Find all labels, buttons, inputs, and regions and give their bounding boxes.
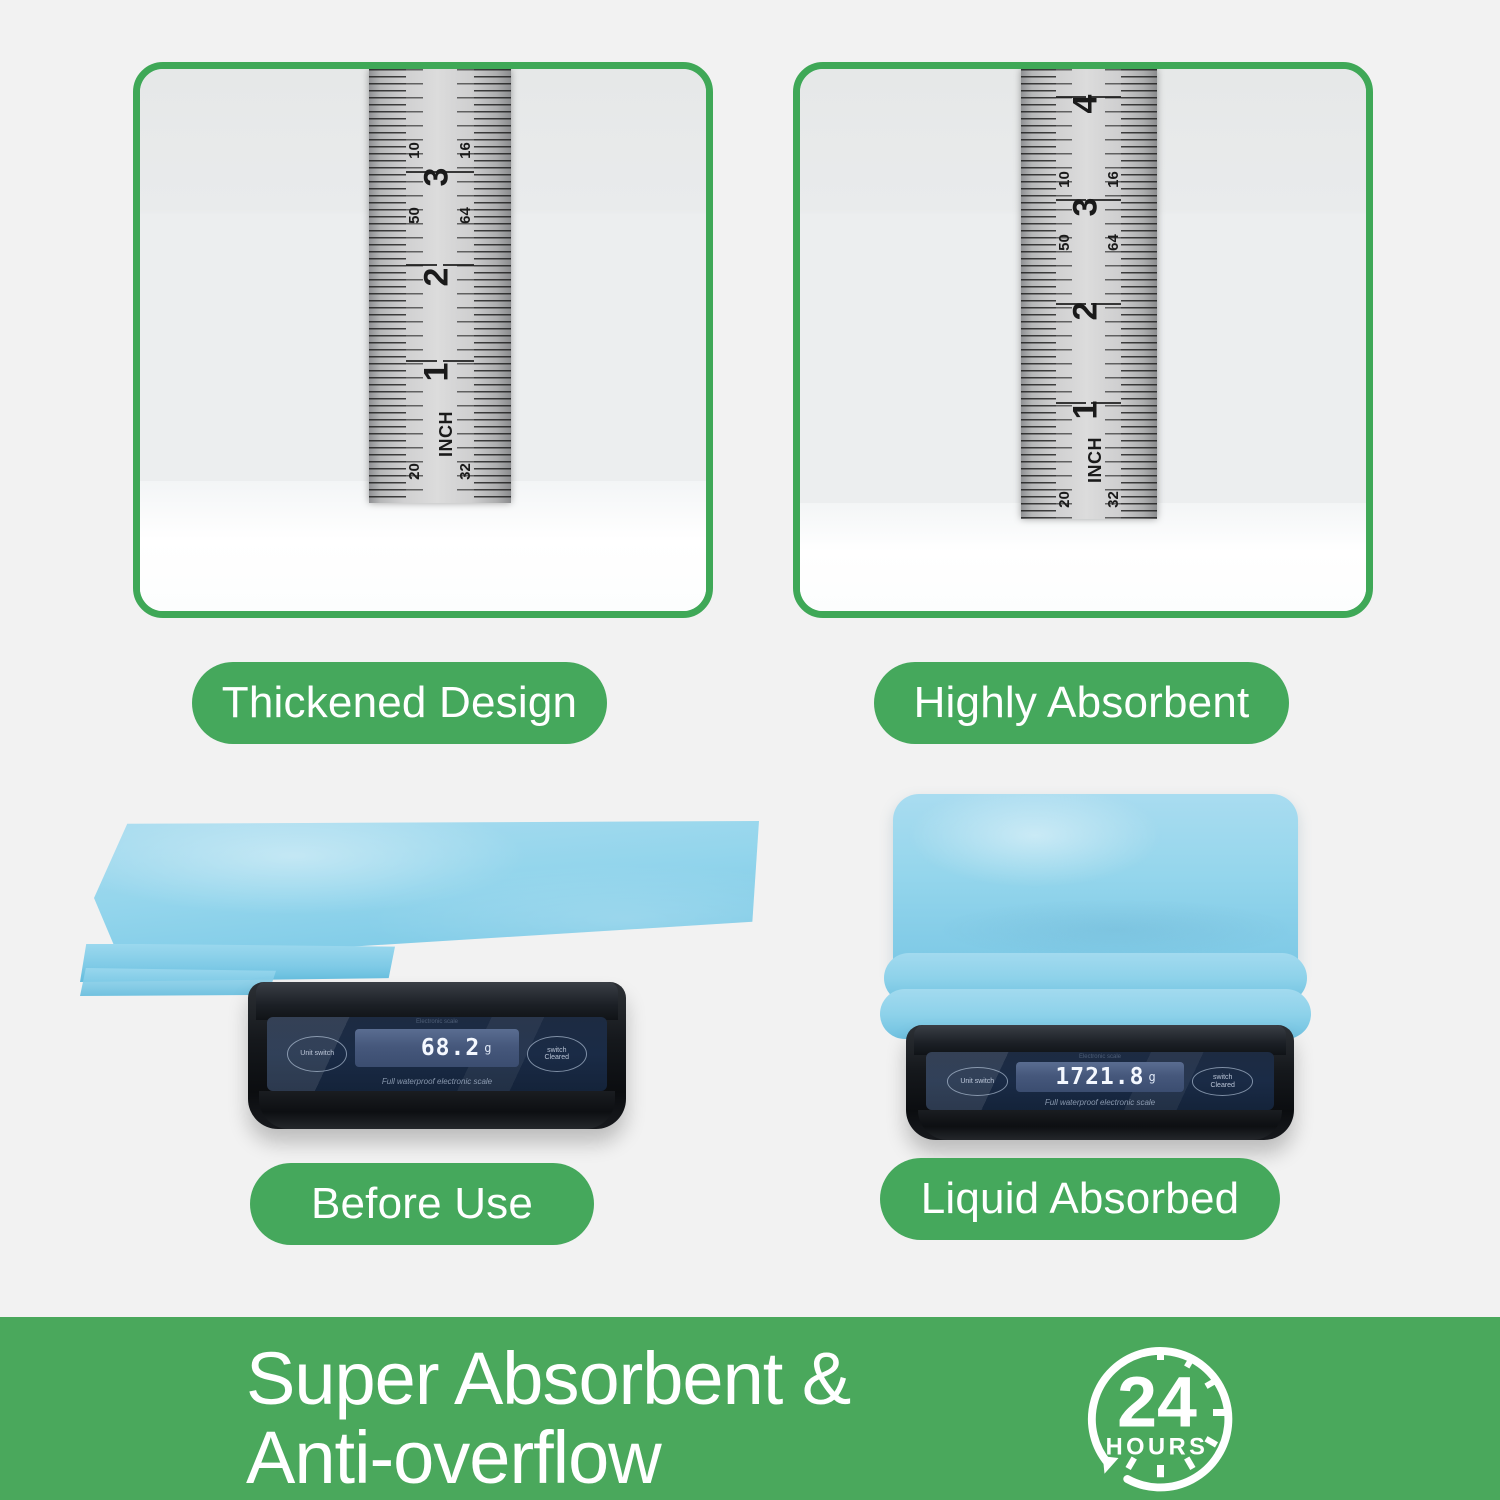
ruler-ticks-right <box>474 69 511 503</box>
photo-frame-highly-absorbent: 4 10 16 3 50 64 2 1 INCH 20 32 <box>793 62 1373 618</box>
ruler-frac-10: 10 <box>1057 172 1072 189</box>
ruler-inch-1: 1 <box>420 363 454 382</box>
caption-pill-before-use[interactable]: Before Use <box>250 1163 594 1245</box>
caption-pill-highly-absorbent[interactable]: Highly Absorbent <box>874 662 1289 744</box>
photo-before-use: Electronic scale Unit switch 68.2 g swit… <box>80 800 780 1150</box>
scale-control-face: Electronic scale Unit switch 68.2 g swit… <box>267 1017 607 1091</box>
photo-liquid-absorbed: Electronic scale Unit switch 1721.8 g sw… <box>880 780 1320 1140</box>
ruler-ticks-left-coarse <box>1056 69 1072 519</box>
scale-platter <box>256 982 619 1020</box>
switch-cleared-label-2: Cleared <box>545 1054 570 1062</box>
scale-brand-text: Electronic scale <box>926 1054 1274 1060</box>
ruler-frac-20: 20 <box>1057 491 1072 508</box>
infographic-stage: 10 16 50 64 20 32 3 2 1 INCH <box>0 0 1500 1500</box>
ruler-frac-64: 64 <box>458 207 473 224</box>
banner-headline: Super Absorbent & Anti-overflow <box>246 1339 850 1497</box>
ruler-inch-2: 2 <box>1069 301 1103 320</box>
scale-platter <box>914 1025 1286 1055</box>
ruler-frac-20: 20 <box>407 463 422 480</box>
unit-switch-button[interactable]: Unit switch <box>287 1036 347 1072</box>
scale-base <box>918 1110 1282 1140</box>
scale-lcd-display: 68.2 g <box>355 1029 518 1067</box>
ruler-ticks-right-coarse <box>457 69 474 503</box>
photo-highly-absorbent: 4 10 16 3 50 64 2 1 INCH 20 32 <box>800 69 1366 611</box>
scale-lcd-display: 1721.8 g <box>1016 1062 1183 1092</box>
caption-pill-thickened-design[interactable]: Thickened Design <box>192 662 607 744</box>
banner-headline-line-2: Anti-overflow <box>246 1418 850 1497</box>
steel-ruler: 10 16 50 64 20 32 3 2 1 INCH <box>369 69 511 503</box>
banner-headline-line-1: Super Absorbent & <box>246 1339 850 1418</box>
photo-thickened-design: 10 16 50 64 20 32 3 2 1 INCH <box>140 69 706 611</box>
switch-cleared-label-1: switch <box>547 1047 566 1055</box>
ruler-inch-1: 1 <box>1069 400 1103 419</box>
clock-badge-label: HOURS <box>1106 1435 1209 1461</box>
ruler-unit-label: INCH <box>437 411 455 457</box>
scale-weight-unit: g <box>1148 1070 1155 1084</box>
digital-scale-before: Electronic scale Unit switch 68.2 g swit… <box>248 982 626 1129</box>
underpad-folded-edge-lower <box>80 968 276 996</box>
ruler-frac-32: 32 <box>458 463 473 480</box>
ruler-ticks-right-coarse <box>1105 69 1121 519</box>
ruler-inch-3: 3 <box>420 168 454 187</box>
ruler-inch-3: 3 <box>1069 198 1103 217</box>
ruler-frac-32: 32 <box>1106 491 1121 508</box>
ruler-frac-16: 16 <box>1106 172 1121 189</box>
scale-brand-text: Electronic scale <box>267 1019 607 1025</box>
ruler-frac-50: 50 <box>407 207 422 224</box>
table-surface <box>800 503 1366 611</box>
clock-badge-number: 24 <box>1117 1363 1197 1443</box>
switch-cleared-label-1: switch <box>1213 1074 1232 1082</box>
switch-cleared-button[interactable]: switch Cleared <box>1192 1067 1253 1095</box>
scale-subtitle: Full waterproof electronic scale <box>267 1077 607 1086</box>
unit-switch-label: Unit switch <box>960 1078 994 1086</box>
caption-label: Thickened Design <box>222 678 577 728</box>
ruler-frac-16: 16 <box>458 142 473 159</box>
scale-weight-unit: g <box>484 1041 491 1055</box>
scale-base <box>259 1091 614 1129</box>
ruler-ticks-right <box>1121 69 1156 519</box>
digital-scale-after: Electronic scale Unit switch 1721.8 g sw… <box>906 1025 1293 1140</box>
ruler-frac-50: 50 <box>1057 235 1072 252</box>
flat-dry-underpad <box>94 821 759 961</box>
clock-24-hours-icon: 24 HOURS <box>1073 1325 1248 1500</box>
scale-subtitle: Full waterproof electronic scale <box>926 1098 1274 1107</box>
bottom-banner: Super Absorbent & Anti-overflow <box>0 1317 1500 1500</box>
ruler-ticks-left <box>369 69 406 503</box>
caption-pill-liquid-absorbed[interactable]: Liquid Absorbed <box>880 1158 1280 1240</box>
switch-cleared-label-2: Cleared <box>1210 1082 1235 1090</box>
caption-label: Highly Absorbent <box>914 678 1250 728</box>
scale-weight-value: 68.2 <box>421 1035 480 1061</box>
photo-frame-thickened-design: 10 16 50 64 20 32 3 2 1 INCH <box>133 62 713 618</box>
steel-ruler: 4 10 16 3 50 64 2 1 INCH 20 32 <box>1021 69 1157 519</box>
ruler-inch-2: 2 <box>420 267 454 286</box>
switch-cleared-button[interactable]: switch Cleared <box>527 1036 587 1072</box>
caption-label: Before Use <box>311 1179 533 1229</box>
ruler-frac-64: 64 <box>1106 235 1121 252</box>
unit-switch-label: Unit switch <box>300 1050 334 1058</box>
scale-weight-value: 1721.8 <box>1055 1064 1144 1090</box>
unit-switch-button[interactable]: Unit switch <box>947 1067 1008 1095</box>
ruler-frac-10: 10 <box>407 142 422 159</box>
ruler-unit-label: INCH <box>1086 437 1104 483</box>
caption-label: Liquid Absorbed <box>921 1174 1240 1224</box>
scale-control-face: Electronic scale Unit switch 1721.8 g sw… <box>926 1052 1274 1110</box>
ruler-inch-4: 4 <box>1069 95 1103 114</box>
ruler-ticks-left <box>1021 69 1056 519</box>
